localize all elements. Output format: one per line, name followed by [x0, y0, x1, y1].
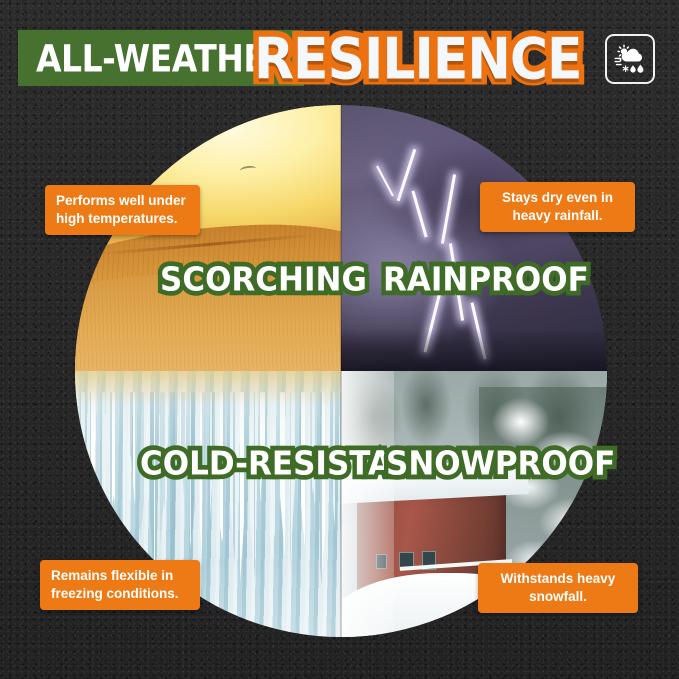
- snow-left-haze: [341, 371, 394, 637]
- page-title-accent: RESILIENCE: [248, 27, 588, 93]
- quadrant-label-snowproof: SNOWPROOF: [386, 445, 615, 483]
- callout-freezing-conditions: Remains flexible in freezing conditions.: [40, 560, 200, 610]
- quadrant-scorching-image: [75, 105, 341, 371]
- collage-vertical-seam: [340, 105, 342, 637]
- callout-heavy-snowfall: Withstands heavy snowfall.: [478, 563, 638, 613]
- callout-high-temperatures: Performs well under high temperatures.: [45, 185, 200, 235]
- callout-heavy-rainfall: Stays dry even in heavy rainfall.: [480, 182, 635, 232]
- header-banner: ALL-WEATHER RESILIENCE: [0, 30, 679, 92]
- ice-top-fade: [75, 371, 341, 440]
- storm-treeline-shape: [341, 328, 607, 371]
- quadrant-rainproof-image: [341, 105, 607, 371]
- weather-mixed-icon: [605, 34, 655, 84]
- quadrant-label-rainproof: RAINPROOF: [383, 261, 589, 299]
- title-accent-wrap: RESILIENCE: [248, 24, 588, 96]
- quadrant-label-scorching: SCORCHING: [160, 261, 367, 299]
- bird-silhouette-icon: [239, 165, 256, 174]
